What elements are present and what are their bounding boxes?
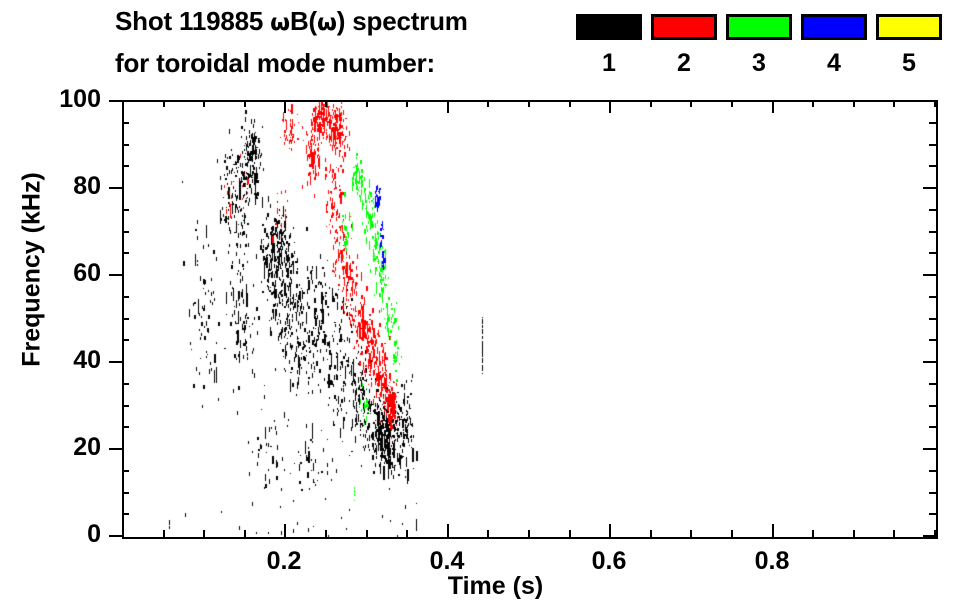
legend-item-mode-4[interactable]: 4 (801, 0, 867, 76)
legend-item-mode-1[interactable]: 1 (576, 0, 642, 76)
legend-label-mode-1: 1 (576, 50, 642, 76)
y-minor-tick (122, 426, 129, 428)
y-minor-tick-right (929, 470, 936, 472)
y-minor-tick (122, 492, 129, 494)
x-major-tick (772, 524, 774, 537)
x-minor-tick (325, 530, 327, 537)
chart-header: Shot 119885 ωB(ω) spectrum for toroidal … (0, 0, 963, 96)
legend-swatch-mode-3 (726, 14, 792, 40)
y-minor-tick (122, 209, 129, 211)
y-major-tick (109, 100, 122, 102)
omega-symbol-1: ω (270, 10, 290, 36)
legend: 12345 (576, 0, 963, 96)
y-major-tick (109, 448, 122, 450)
legend-swatch-mode-5 (876, 14, 942, 40)
y-major-tick-right (923, 448, 936, 450)
x-minor-tick-top (406, 100, 408, 107)
x-minor-tick (244, 530, 246, 537)
y-minor-tick (122, 405, 129, 407)
y-minor-tick (122, 165, 129, 167)
legend-label-mode-5: 5 (876, 50, 942, 76)
y-minor-tick (122, 144, 129, 146)
legend-label-mode-2: 2 (651, 50, 717, 76)
x-major-tick-top (772, 100, 774, 113)
y-major-tick-right (923, 187, 936, 189)
y-minor-tick (122, 122, 129, 124)
x-minor-tick-top (853, 100, 855, 107)
y-major-tick (109, 274, 122, 276)
y-major-tick (109, 361, 122, 363)
y-minor-tick-right (929, 252, 936, 254)
spectrogram-canvas (124, 102, 936, 537)
x-minor-tick-top (650, 100, 652, 107)
x-minor-tick-top (812, 100, 814, 107)
y-tick-label: 20 (31, 433, 101, 462)
y-minor-tick-right (929, 339, 936, 341)
x-axis-label: Time (s) (0, 572, 963, 601)
title-mid: B( (290, 6, 317, 36)
y-major-tick-right (923, 361, 936, 363)
plot-area (122, 100, 938, 539)
y-minor-tick-right (929, 383, 936, 385)
y-minor-tick (122, 252, 129, 254)
x-major-tick (284, 524, 286, 537)
y-minor-tick (122, 231, 129, 233)
x-minor-tick (487, 530, 489, 537)
x-minor-tick (893, 530, 895, 537)
x-minor-tick-top (366, 100, 368, 107)
x-axis-label-text: Time (s) (448, 572, 543, 600)
y-major-tick-right (923, 100, 936, 102)
x-minor-tick-top (569, 100, 571, 107)
x-major-tick-top (284, 100, 286, 113)
legend-item-mode-3[interactable]: 3 (726, 0, 792, 76)
x-minor-tick (569, 530, 571, 537)
x-minor-tick-top (487, 100, 489, 107)
y-minor-tick-right (929, 144, 936, 146)
y-minor-tick-right (929, 165, 936, 167)
x-minor-tick (163, 530, 165, 537)
legend-label-mode-4: 4 (801, 50, 867, 76)
x-minor-tick-top (122, 100, 124, 107)
x-major-tick (609, 524, 611, 537)
x-minor-tick (650, 530, 652, 537)
y-major-tick-right (923, 535, 936, 537)
title-suffix: ) spectrum (337, 6, 468, 36)
y-minor-tick (122, 318, 129, 320)
x-minor-tick-top (244, 100, 246, 107)
x-major-tick (447, 524, 449, 537)
page-title: Shot 119885 ωB(ω) spectrum (115, 6, 468, 37)
x-minor-tick-top (325, 100, 327, 107)
x-minor-tick-top (163, 100, 165, 107)
y-minor-tick-right (929, 513, 936, 515)
x-minor-tick-top (203, 100, 205, 107)
y-minor-tick (122, 513, 129, 515)
y-major-tick (109, 187, 122, 189)
x-minor-tick (731, 530, 733, 537)
x-minor-tick (690, 530, 692, 537)
legend-label-mode-3: 3 (726, 50, 792, 76)
y-minor-tick (122, 470, 129, 472)
y-minor-tick-right (929, 492, 936, 494)
legend-swatch-mode-1 (576, 14, 642, 40)
y-axis-label: Frequency (kHz) (18, 120, 47, 420)
x-minor-tick (812, 530, 814, 537)
y-minor-tick (122, 339, 129, 341)
x-minor-tick (122, 530, 124, 537)
y-minor-tick-right (929, 405, 936, 407)
x-minor-tick (853, 530, 855, 537)
x-minor-tick (528, 530, 530, 537)
y-tick-label: 100 (31, 85, 101, 114)
x-minor-tick (366, 530, 368, 537)
y-minor-tick-right (929, 296, 936, 298)
y-minor-tick-right (929, 318, 936, 320)
x-minor-tick (203, 530, 205, 537)
y-minor-tick-right (929, 122, 936, 124)
legend-swatch-mode-2 (651, 14, 717, 40)
omega-symbol-2: ω (317, 10, 337, 36)
y-tick-label: 0 (31, 520, 101, 549)
x-major-tick-top (447, 100, 449, 113)
legend-item-mode-2[interactable]: 2 (651, 0, 717, 76)
title-prefix: Shot 119885 (115, 6, 270, 36)
page-subtitle: for toroidal mode number: (115, 48, 435, 79)
x-minor-tick (406, 530, 408, 537)
y-minor-tick-right (929, 426, 936, 428)
legend-item-mode-5[interactable]: 5 (876, 0, 942, 76)
x-minor-tick-top (893, 100, 895, 107)
y-minor-tick-right (929, 209, 936, 211)
x-minor-tick-top (731, 100, 733, 107)
y-minor-tick (122, 383, 129, 385)
y-major-tick-right (923, 274, 936, 276)
legend-swatch-mode-4 (801, 14, 867, 40)
x-minor-tick-top (528, 100, 530, 107)
x-major-tick-top (609, 100, 611, 113)
y-minor-tick-right (929, 231, 936, 233)
y-minor-tick (122, 296, 129, 298)
x-minor-tick-top (690, 100, 692, 107)
y-major-tick (109, 535, 122, 537)
